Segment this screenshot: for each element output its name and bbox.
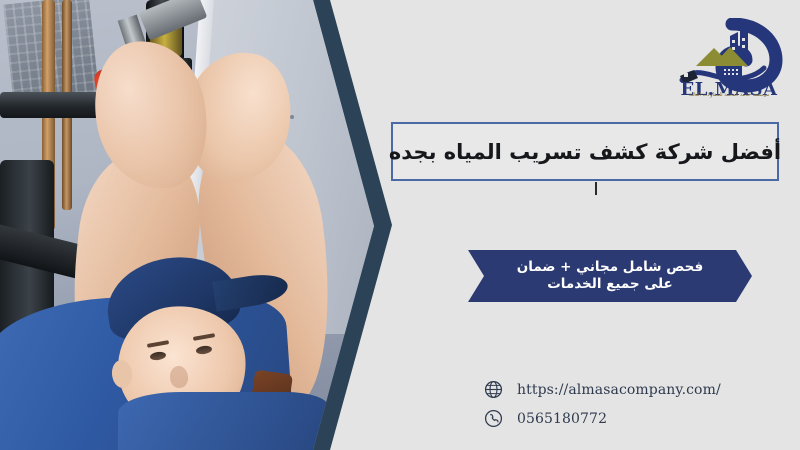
banner-canvas: EL.MASA مؤسسة خدمة الماسة للمقاولات العا… <box>0 0 800 450</box>
website-url[interactable]: https://almasacompany.com/ <box>517 382 721 398</box>
page-title: أفضل شركة كشف تسريب المياه بجده <box>389 140 781 164</box>
photo-shoulder <box>118 392 328 450</box>
contact-row-website[interactable]: https://almasacompany.com/ <box>484 380 721 399</box>
house-skyline-logo-icon: EL.MASA <box>668 18 790 96</box>
photo-screw-dot <box>290 115 294 119</box>
text-cursor-caret <box>595 182 597 195</box>
phone-icon <box>484 409 503 428</box>
phone-number[interactable]: 0565180772 <box>517 411 607 427</box>
plumber-photo <box>0 0 374 450</box>
contact-block: https://almasacompany.com/ 0565180772 <box>484 380 721 428</box>
contact-row-phone[interactable]: 0565180772 <box>484 409 721 428</box>
offer-badge: فحص شامل مجاني + ضمان على جميع الخدمات <box>468 250 752 302</box>
logo-tagline: مؤسسة خدمة الماسة للمقاولات العامة <box>668 92 790 98</box>
globe-icon <box>484 380 503 399</box>
offer-badge-line-1: فحص شامل مجاني + ضمان <box>517 260 703 276</box>
photo-panel-frame <box>0 0 392 450</box>
headline-box: أفضل شركة كشف تسريب المياه بجده <box>391 122 779 181</box>
company-logo[interactable]: EL.MASA مؤسسة خدمة الماسة للمقاولات العا… <box>668 18 790 104</box>
offer-badge-line-2: على جميع الخدمات <box>547 277 673 293</box>
